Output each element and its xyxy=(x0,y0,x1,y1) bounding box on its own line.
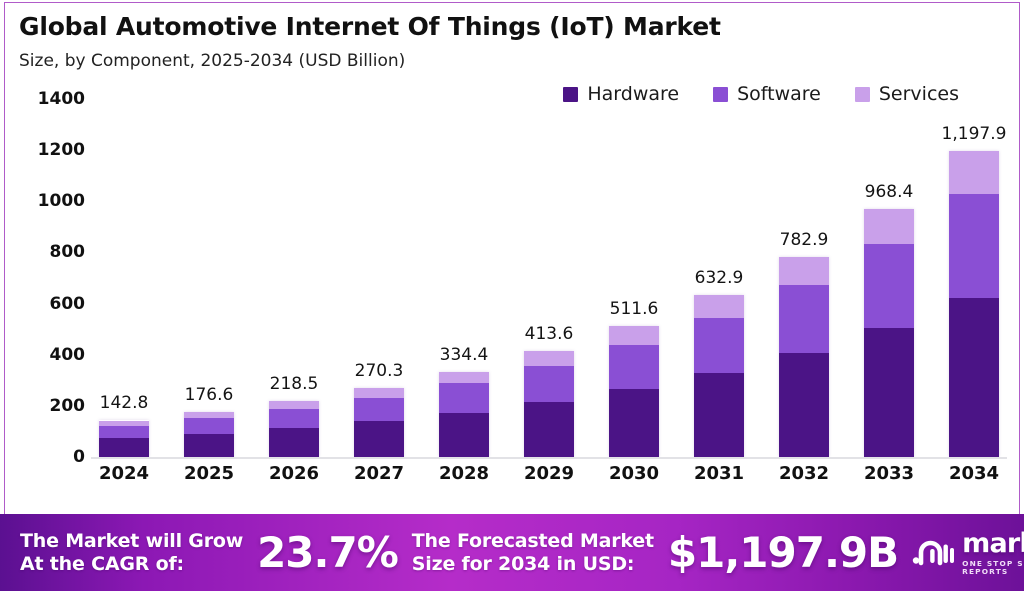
y-axis-tick-label: 400 xyxy=(19,345,85,365)
bar-segment-software[interactable] xyxy=(524,366,574,402)
bar-segment-software[interactable] xyxy=(779,285,829,353)
x-axis-tick-label: 2026 xyxy=(267,463,321,484)
bar-stack[interactable] xyxy=(269,401,319,457)
bar-total-label: 334.4 xyxy=(440,345,489,365)
bar-total-label: 632.9 xyxy=(695,268,744,288)
bar-segment-hardware[interactable] xyxy=(354,421,404,457)
brand-logo[interactable]: market.us ONE STOP SHOP FOR THE REPORTS xyxy=(912,530,1024,575)
bar-stack[interactable] xyxy=(439,372,489,458)
x-axis-tick-label: 2030 xyxy=(607,463,661,484)
bar-stack[interactable] xyxy=(354,388,404,457)
bar-stack[interactable] xyxy=(694,295,744,457)
bar-stack[interactable] xyxy=(524,351,574,457)
x-axis-tick-label: 2031 xyxy=(692,463,746,484)
page-subtitle: Size, by Component, 2025-2034 (USD Billi… xyxy=(19,51,1005,71)
forecast-label: The Forecasted Market Size for 2034 in U… xyxy=(412,530,654,575)
bar-segment-software[interactable] xyxy=(609,345,659,389)
y-axis-tick-label: 0 xyxy=(19,447,85,467)
bar-segment-hardware[interactable] xyxy=(99,438,149,457)
bar-group-2028[interactable]: 334.4 xyxy=(437,99,491,457)
bar-segment-software[interactable] xyxy=(694,318,744,373)
cagr-label: The Market will Grow At the CAGR of: xyxy=(20,530,243,575)
y-axis-tick-label: 200 xyxy=(19,396,85,416)
y-axis-tick-label: 1200 xyxy=(19,140,85,160)
x-axis-tick-label: 2024 xyxy=(97,463,151,484)
bar-stack[interactable] xyxy=(779,257,829,457)
bar-segment-services[interactable] xyxy=(694,295,744,318)
bar-segment-hardware[interactable] xyxy=(779,353,829,457)
bar-group-2030[interactable]: 511.6 xyxy=(607,99,661,457)
bar-segment-services[interactable] xyxy=(864,209,914,244)
y-axis-tick-label: 600 xyxy=(19,294,85,314)
bar-segment-software[interactable] xyxy=(269,409,319,428)
chart-card: Global Automotive Internet Of Things (Io… xyxy=(4,2,1020,514)
bar-segment-software[interactable] xyxy=(99,426,149,438)
bar-group-2025[interactable]: 176.6 xyxy=(182,99,236,457)
logo-tagline: ONE STOP SHOP FOR THE REPORTS xyxy=(962,560,1024,575)
plot-canvas: 142.8176.6218.5270.3334.4413.6511.6632.9… xyxy=(91,99,1007,459)
y-axis: 0200400600800100012001400 xyxy=(19,99,85,459)
bar-segment-hardware[interactable] xyxy=(269,428,319,457)
x-axis-tick-label: 2029 xyxy=(522,463,576,484)
bar-total-label: 142.8 xyxy=(100,393,149,413)
x-axis-tick-label: 2033 xyxy=(862,463,916,484)
bar-stack[interactable] xyxy=(609,326,659,457)
bar-total-label: 218.5 xyxy=(270,374,319,394)
x-axis: 2024202520262027202820292030203120322033… xyxy=(91,463,1007,484)
forecast-label-line1: The Forecasted Market xyxy=(412,530,654,552)
cagr-value: 23.7% xyxy=(257,528,398,577)
bar-group-2034[interactable]: 1,197.9 xyxy=(947,99,1001,457)
bar-group-2024[interactable]: 142.8 xyxy=(97,99,151,457)
bar-total-label: 270.3 xyxy=(355,361,404,381)
bar-segment-software[interactable] xyxy=(354,398,404,422)
market-us-mark-icon xyxy=(912,536,954,570)
cagr-label-line2: At the CAGR of: xyxy=(20,553,184,575)
bar-total-label: 176.6 xyxy=(185,385,234,405)
bar-group-2029[interactable]: 413.6 xyxy=(522,99,576,457)
bar-segment-services[interactable] xyxy=(949,151,999,194)
bar-segment-services[interactable] xyxy=(524,351,574,366)
bar-group-2032[interactable]: 782.9 xyxy=(777,99,831,457)
forecast-label-line2: Size for 2034 in USD: xyxy=(412,553,635,575)
bar-stack[interactable] xyxy=(864,209,914,457)
forecast-value: $1,197.9B xyxy=(668,528,898,577)
bar-segment-hardware[interactable] xyxy=(524,402,574,457)
x-axis-tick-label: 2032 xyxy=(777,463,831,484)
bar-total-label: 1,197.9 xyxy=(942,124,1007,144)
bar-segment-software[interactable] xyxy=(184,418,234,433)
x-axis-tick-label: 2034 xyxy=(947,463,1001,484)
bar-segment-services[interactable] xyxy=(609,326,659,344)
bar-total-label: 413.6 xyxy=(525,324,574,344)
bar-segment-hardware[interactable] xyxy=(694,373,744,457)
bar-segment-hardware[interactable] xyxy=(864,328,914,457)
bar-segment-services[interactable] xyxy=(269,401,319,409)
bar-segment-services[interactable] xyxy=(439,372,489,384)
bar-stack[interactable] xyxy=(99,420,149,457)
bar-stack[interactable] xyxy=(949,151,999,457)
bar-total-label: 968.4 xyxy=(865,182,914,202)
x-axis-tick-label: 2028 xyxy=(437,463,491,484)
logo-name: market.us xyxy=(962,530,1024,557)
bar-total-label: 511.6 xyxy=(610,299,659,319)
bar-group-2027[interactable]: 270.3 xyxy=(352,99,406,457)
bar-segment-services[interactable] xyxy=(779,257,829,285)
bar-segment-hardware[interactable] xyxy=(949,298,999,457)
bar-segment-hardware[interactable] xyxy=(609,389,659,457)
y-axis-tick-label: 800 xyxy=(19,242,85,262)
axis-baseline xyxy=(91,457,1007,459)
bar-total-label: 782.9 xyxy=(780,230,829,250)
cagr-label-line1: The Market will Grow xyxy=(20,530,243,552)
plot-area: 0200400600800100012001400 142.8176.6218.… xyxy=(19,99,1007,510)
bar-segment-services[interactable] xyxy=(354,388,404,398)
bar-segment-software[interactable] xyxy=(949,194,999,298)
y-axis-tick-label: 1400 xyxy=(19,89,85,109)
bar-segment-hardware[interactable] xyxy=(184,434,234,457)
x-axis-tick-label: 2025 xyxy=(182,463,236,484)
bar-segment-hardware[interactable] xyxy=(439,413,489,457)
bar-series-container: 142.8176.6218.5270.3334.4413.6511.6632.9… xyxy=(91,99,1007,457)
page-title: Global Automotive Internet Of Things (Io… xyxy=(19,13,1005,42)
y-axis-tick-label: 1000 xyxy=(19,191,85,211)
infographic-root: Global Automotive Internet Of Things (Io… xyxy=(0,0,1024,591)
bar-group-2026[interactable]: 218.5 xyxy=(267,99,321,457)
bar-segment-software[interactable] xyxy=(864,244,914,328)
bar-group-2031[interactable]: 632.9 xyxy=(692,99,746,457)
bar-group-2033[interactable]: 968.4 xyxy=(862,99,916,457)
x-axis-tick-label: 2027 xyxy=(352,463,406,484)
footer-banner: The Market will Grow At the CAGR of: 23.… xyxy=(0,514,1024,591)
bar-stack[interactable] xyxy=(184,412,234,457)
bar-segment-software[interactable] xyxy=(439,383,489,412)
logo-text-block: market.us ONE STOP SHOP FOR THE REPORTS xyxy=(962,530,1024,575)
